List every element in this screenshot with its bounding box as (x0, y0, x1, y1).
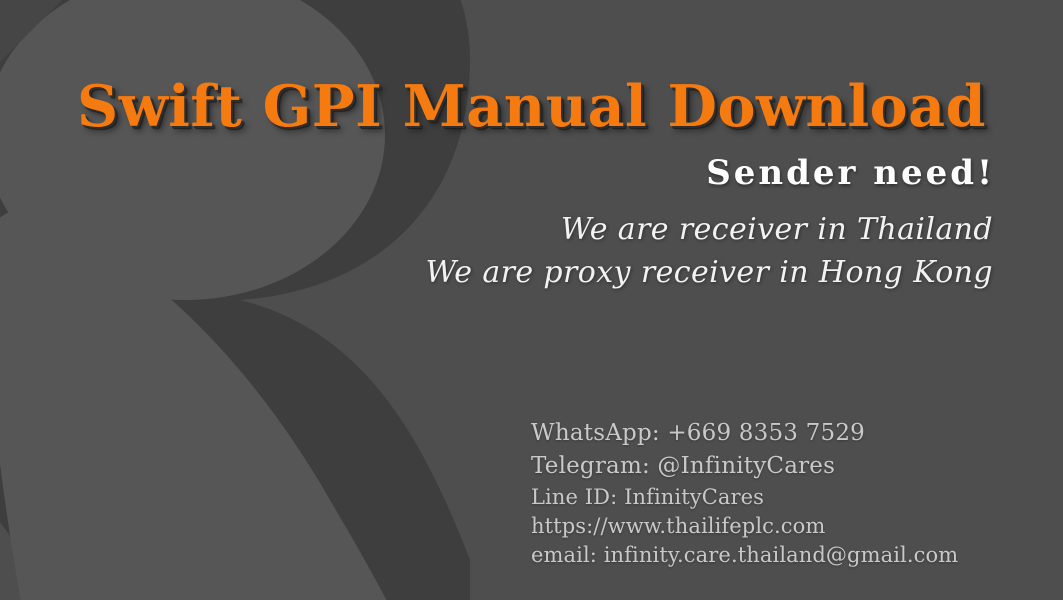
contact-line-telegram[interactable]: Telegram: @InfinityCares (531, 450, 958, 483)
slide-canvas: Swift GPI Manual Download Sender need! W… (0, 0, 1063, 600)
script-text-block: We are receiver in Thailand We are proxy… (425, 208, 993, 294)
subtitle: Sender need! (706, 156, 995, 192)
page-title: Swift GPI Manual Download (0, 78, 1063, 135)
script-line-1: We are receiver in Thailand (425, 208, 993, 251)
contact-line-website[interactable]: https://www.thailifeplc.com (531, 512, 958, 541)
contact-line-email[interactable]: email: infinity.care.thailand@gmail.com (531, 541, 958, 570)
contact-line-line-id[interactable]: Line ID: InfinityCares (531, 483, 958, 512)
contact-line-whatsapp[interactable]: WhatsApp: +669 8353 7529 (531, 417, 958, 450)
script-line-2: We are proxy receiver in Hong Kong (425, 251, 993, 294)
contact-block: WhatsApp: +669 8353 7529 Telegram: @Infi… (531, 417, 958, 570)
